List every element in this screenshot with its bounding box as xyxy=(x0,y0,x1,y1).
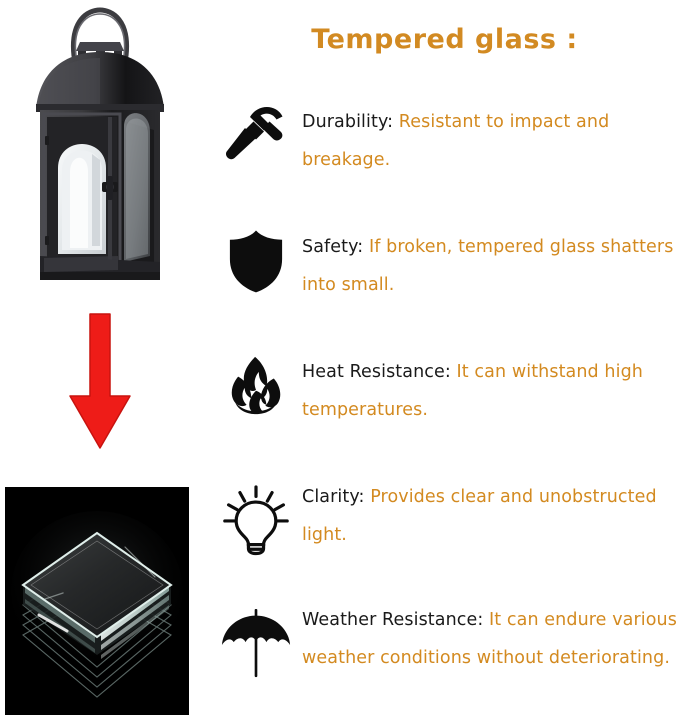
feature-label-heat-resistance: Heat Resistance: xyxy=(302,362,451,382)
feature-row-heat-resistance: Heat Resistance: It can withstand high t… xyxy=(210,353,679,429)
glass-stack-illustration xyxy=(5,487,189,715)
features-column: Tempered glass : Durability: Resistant t… xyxy=(210,0,679,720)
feature-row-safety: Safety: If broken, tempered glass shatte… xyxy=(210,228,679,304)
shield-glyph xyxy=(227,228,285,294)
page-title: Tempered glass : xyxy=(210,24,679,55)
feature-label-weather-resistance: Weather Resistance: xyxy=(302,610,483,630)
tempered-glass-panels-image xyxy=(5,487,189,715)
feature-row-clarity: Clarity: Provides clear and unobstructed… xyxy=(210,478,679,556)
feature-text-durability: Durability: Resistant to impact and brea… xyxy=(302,103,679,179)
hammer-glyph xyxy=(224,103,288,163)
feature-text-weather-resistance: Weather Resistance: It can endure variou… xyxy=(302,601,679,677)
flame-icon xyxy=(210,353,302,417)
feature-text-safety: Safety: If broken, tempered glass shatte… xyxy=(302,228,679,304)
product-image-column xyxy=(0,0,210,720)
down-arrow-icon xyxy=(58,312,142,450)
feature-text-clarity: Clarity: Provides clear and unobstructed… xyxy=(302,478,679,554)
feature-label-clarity: Clarity: xyxy=(302,487,365,507)
lantern-product-image xyxy=(14,4,184,310)
flame-glyph xyxy=(225,355,287,417)
feature-row-weather-resistance: Weather Resistance: It can endure variou… xyxy=(210,601,679,679)
lightbulb-glyph xyxy=(222,484,290,556)
umbrella-glyph xyxy=(220,609,292,679)
lantern-illustration xyxy=(14,4,184,310)
umbrella-icon xyxy=(210,601,302,679)
lightbulb-icon xyxy=(210,478,302,556)
feature-text-heat-resistance: Heat Resistance: It can withstand high t… xyxy=(302,353,679,429)
feature-label-durability: Durability: xyxy=(302,112,393,132)
shield-icon xyxy=(210,228,302,294)
hammer-icon xyxy=(210,103,302,163)
feature-row-durability: Durability: Resistant to impact and brea… xyxy=(210,103,679,179)
feature-label-safety: Safety: xyxy=(302,237,363,257)
red-down-arrow xyxy=(58,312,142,450)
